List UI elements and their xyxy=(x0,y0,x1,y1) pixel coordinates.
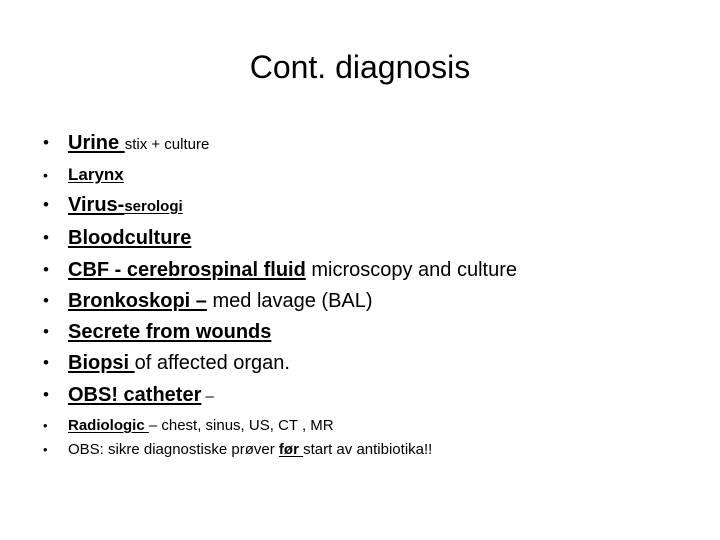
list-item-virus-head: Virus- xyxy=(68,194,124,216)
list-item-urine: •Urine stix + culture xyxy=(36,128,696,160)
list-item-radiologic-head: Radiologic xyxy=(68,417,149,434)
list-item-cbf-head: CBF - cerebrospinal fluid xyxy=(68,259,306,281)
list-item-obs-catheter-detail: – xyxy=(201,388,214,405)
list-item-bloodculture-head: Bloodculture xyxy=(68,227,191,249)
list-item-obs-antibiotika: •OBS: sikre diagnostiske prøver før star… xyxy=(36,438,696,462)
list-item-cbf: •CBF - cerebrospinal fluid microscopy an… xyxy=(36,255,696,285)
list-item-bronkoskopi-detail: med lavage (BAL) xyxy=(207,290,373,312)
list-item-biopsi: •Biopsi of affected organ. xyxy=(36,348,696,378)
list-item-radiologic: •Radiologic – chest, sinus, US, CT , MR xyxy=(36,414,696,438)
bullet-icon: • xyxy=(43,317,49,347)
slide-canvas: Cont. diagnosis •Urine stix + culture •L… xyxy=(0,0,720,540)
bullet-icon: • xyxy=(43,348,49,378)
bullet-icon: • xyxy=(43,128,49,158)
list-item-larynx: •Larynx xyxy=(36,161,696,189)
list-item-cbf-detail: microscopy and culture xyxy=(306,259,517,281)
bullet-icon: • xyxy=(43,161,48,189)
list-item-bronkoskopi-head: Bronkoskopi – xyxy=(68,290,207,312)
bullet-icon: • xyxy=(43,286,49,316)
list-item-larynx-head: Larynx xyxy=(68,165,124,184)
list-item-secrete-head: Secrete from wounds xyxy=(68,321,271,343)
bullet-icon: • xyxy=(43,438,48,462)
list-item-obs-antibiotika-tail: start av antibiotika!! xyxy=(303,441,432,458)
bullet-icon: • xyxy=(43,380,49,410)
bullet-icon: • xyxy=(43,255,49,285)
list-item-biopsi-detail: of affected organ. xyxy=(135,352,290,374)
page-title: Cont. diagnosis xyxy=(0,48,720,86)
bullet-icon: • xyxy=(43,414,48,438)
list-item-urine-head: Urine xyxy=(68,132,125,154)
list-item-obs-catheter-head: OBS! catheter xyxy=(68,384,201,406)
list-item-obs-antibiotika-lead: OBS: sikre diagnostiske prøver xyxy=(68,441,279,458)
bullet-icon: • xyxy=(43,223,49,253)
list-item-secrete-from-wounds: •Secrete from wounds xyxy=(36,317,696,347)
list-item-virus-serologi: •Virus-serologi xyxy=(36,190,696,222)
list-item-obs-catheter: •OBS! catheter – xyxy=(36,380,696,412)
list-item-bronkoskopi: •Bronkoskopi – med lavage (BAL) xyxy=(36,286,696,316)
list-item-biopsi-head: Biopsi xyxy=(68,352,135,374)
diagnosis-bullet-list: •Urine stix + culture •Larynx •Virus-ser… xyxy=(36,128,696,462)
list-item-radiologic-detail: – chest, sinus, US, CT , MR xyxy=(149,417,334,434)
list-item-bloodculture: •Bloodculture xyxy=(36,223,696,253)
bullet-icon: • xyxy=(43,190,49,220)
list-item-urine-detail: stix + culture xyxy=(125,136,210,153)
list-item-obs-antibiotika-emphasis: før xyxy=(279,441,303,458)
list-item-virus-detail: serologi xyxy=(124,198,182,215)
